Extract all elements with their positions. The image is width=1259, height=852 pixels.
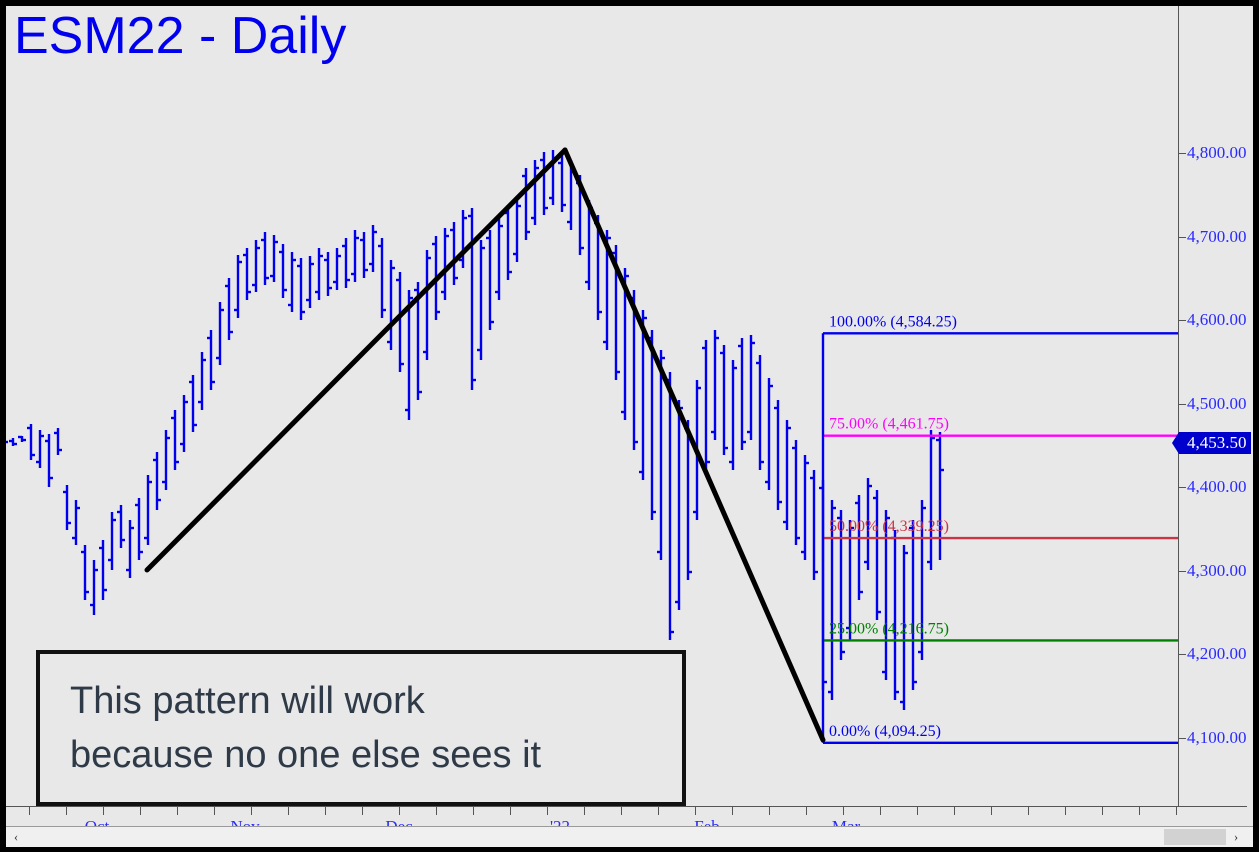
fib-level-label: 75.00% (4,461.75)	[829, 416, 949, 433]
time-tick	[806, 807, 807, 815]
ohlc-bar	[27, 424, 35, 460]
ohlc-bar	[189, 375, 197, 432]
price-axis-label: 4,100.00	[1187, 728, 1247, 748]
time-tick	[214, 807, 215, 815]
time-tick	[362, 807, 363, 815]
time-tick	[732, 807, 733, 815]
ohlc-bar	[504, 205, 512, 280]
ohlc-bar	[171, 410, 179, 470]
ohlc-bar	[756, 355, 764, 470]
ohlc-bar	[927, 430, 935, 570]
ohlc-bar	[351, 230, 359, 282]
ohlc-bar	[882, 510, 890, 680]
fib-level-label: 0.00% (4,094.25)	[829, 723, 941, 740]
ohlc-bar	[801, 455, 809, 560]
time-tick	[510, 807, 511, 815]
time-tick	[103, 807, 104, 815]
time-tick	[140, 807, 141, 815]
ohlc-bar	[45, 434, 53, 487]
current-price-tag: 4,453.50	[1179, 432, 1251, 454]
price-bars	[6, 150, 944, 710]
ohlc-bar	[774, 400, 782, 510]
ohlc-bar	[36, 430, 44, 468]
time-tick	[1139, 807, 1140, 815]
ohlc-bar	[216, 302, 224, 365]
fib-level-label: 25.00% (4,216.75)	[829, 620, 949, 637]
annotation-box[interactable]: This pattern will work because no one el…	[36, 650, 686, 806]
ohlc-bar	[333, 248, 341, 290]
price-axis[interactable]: 4,800.004,700.004,600.004,500.004,400.00…	[1178, 6, 1248, 806]
price-tick	[1179, 404, 1186, 405]
time-tick	[1102, 807, 1103, 815]
time-tick	[917, 807, 918, 815]
time-tick	[621, 807, 622, 815]
trendline-up-leg[interactable]	[147, 150, 565, 570]
ohlc-bar	[792, 440, 800, 545]
ohlc-bar	[162, 430, 170, 490]
ohlc-bar	[387, 260, 395, 350]
ohlc-bar	[450, 222, 458, 285]
ohlc-bar	[198, 352, 206, 410]
ohlc-bar	[342, 238, 350, 288]
ohlc-bar	[522, 168, 530, 240]
ohlc-bar	[909, 520, 917, 690]
price-axis-label: 4,300.00	[1187, 561, 1247, 581]
ohlc-bar	[369, 225, 377, 272]
time-tick	[584, 807, 585, 815]
ohlc-bar	[477, 240, 485, 360]
ohlc-bar	[540, 152, 548, 215]
ohlc-bar	[360, 232, 368, 278]
fib-level-label: 100.00% (4,584.25)	[829, 313, 957, 330]
time-tick	[251, 807, 252, 815]
ohlc-bar	[765, 378, 773, 490]
ohlc-bar	[513, 198, 521, 262]
ohlc-bar	[495, 218, 503, 300]
ohlc-bar	[702, 340, 710, 470]
ohlc-bar	[738, 338, 746, 450]
ohlc-bar	[180, 395, 188, 452]
ohlc-bar	[135, 498, 143, 560]
ohlc-bar	[315, 248, 323, 300]
fibonacci-retracement[interactable]: 100.00% (4,584.25)75.00% (4,461.75)50.00…	[823, 313, 1178, 743]
ohlc-bar	[279, 244, 287, 298]
fib-level-label: 50.00% (4,339.25)	[829, 518, 949, 535]
time-tick	[1176, 807, 1177, 815]
ohlc-bar	[306, 256, 314, 308]
price-tick	[1179, 320, 1186, 321]
ohlc-bar	[63, 485, 71, 530]
time-tick	[547, 807, 548, 815]
ohlc-bar	[891, 530, 899, 700]
price-tick	[1179, 654, 1186, 655]
ohlc-bar	[684, 420, 692, 580]
ohlc-bar	[297, 258, 305, 320]
ohlc-bar	[72, 500, 80, 545]
price-tick	[1179, 738, 1186, 739]
ohlc-bar	[270, 235, 278, 282]
ohlc-bar	[675, 400, 683, 610]
price-axis-label: 4,600.00	[1187, 310, 1247, 330]
ohlc-bar	[99, 540, 107, 600]
ohlc-bar	[468, 208, 476, 390]
scroll-left-arrow-icon[interactable]: ‹	[8, 829, 24, 845]
annotation-text: This pattern will work because no one el…	[70, 674, 670, 782]
ohlc-bar	[9, 438, 17, 446]
time-tick	[695, 807, 696, 815]
ohlc-bar	[423, 250, 431, 360]
price-tick	[1179, 571, 1186, 572]
ohlc-bar	[873, 490, 881, 620]
ohlc-bar	[810, 470, 818, 580]
ohlc-bar	[54, 428, 62, 455]
ohlc-bar	[81, 545, 89, 600]
ohlc-bar	[720, 345, 728, 455]
chart-window: 100.00% (4,584.25)75.00% (4,461.75)50.00…	[0, 0, 1259, 852]
time-tick	[66, 807, 67, 815]
price-axis-label: 4,400.00	[1187, 477, 1247, 497]
price-tick	[1179, 487, 1186, 488]
time-tick	[880, 807, 881, 815]
ohlc-bar	[747, 335, 755, 440]
horizontal-scrollbar[interactable]: ‹ ›	[6, 826, 1253, 847]
ohlc-bar	[666, 372, 674, 640]
time-tick	[843, 807, 844, 815]
ohlc-bar	[729, 360, 737, 470]
ohlc-bar	[90, 560, 98, 615]
ohlc-bar	[6, 437, 8, 444]
ohlc-bar	[855, 495, 863, 600]
ohlc-bar	[378, 238, 386, 318]
ohlc-bar	[486, 230, 494, 330]
ohlc-bar	[252, 240, 260, 292]
time-tick	[1028, 807, 1029, 815]
time-tick	[1065, 807, 1066, 815]
ohlc-bar	[225, 278, 233, 340]
price-axis-label: 4,800.00	[1187, 143, 1247, 163]
scroll-right-arrow-icon[interactable]: ›	[1228, 829, 1244, 845]
time-tick	[399, 807, 400, 815]
ohlc-bar	[261, 232, 269, 285]
time-tick	[991, 807, 992, 815]
time-tick	[177, 807, 178, 815]
ohlc-bar	[459, 210, 467, 268]
price-axis-label: 4,500.00	[1187, 394, 1247, 414]
ohlc-bar	[108, 512, 116, 570]
price-tick	[1179, 237, 1186, 238]
ohlc-bar	[234, 255, 242, 318]
time-tick	[325, 807, 326, 815]
time-tick	[658, 807, 659, 815]
scrollbar-thumb[interactable]	[1164, 829, 1226, 845]
price-tick	[1179, 153, 1186, 154]
page-title: ESM22 - Daily	[14, 6, 346, 66]
price-axis-label: 4,200.00	[1187, 644, 1247, 664]
ohlc-bar	[531, 160, 539, 225]
time-tick	[769, 807, 770, 815]
ohlc-bar	[144, 475, 152, 545]
time-tick	[288, 807, 289, 815]
ohlc-bar	[18, 436, 26, 442]
ohlc-bar	[288, 252, 296, 312]
ohlc-bar	[324, 252, 332, 296]
time-tick	[29, 807, 30, 815]
time-tick	[954, 807, 955, 815]
time-tick	[436, 807, 437, 815]
ohlc-bar	[117, 505, 125, 548]
ohlc-bar	[936, 432, 944, 560]
ohlc-bar	[126, 520, 134, 578]
ohlc-bar	[558, 155, 566, 212]
price-axis-label: 4,700.00	[1187, 227, 1247, 247]
ohlc-bar	[783, 420, 791, 530]
ohlc-bar	[207, 330, 215, 390]
ohlc-bar	[243, 248, 251, 300]
ohlc-bar	[441, 228, 449, 300]
ohlc-bar	[711, 330, 719, 440]
time-tick	[473, 807, 474, 815]
ohlc-bar	[153, 452, 161, 510]
